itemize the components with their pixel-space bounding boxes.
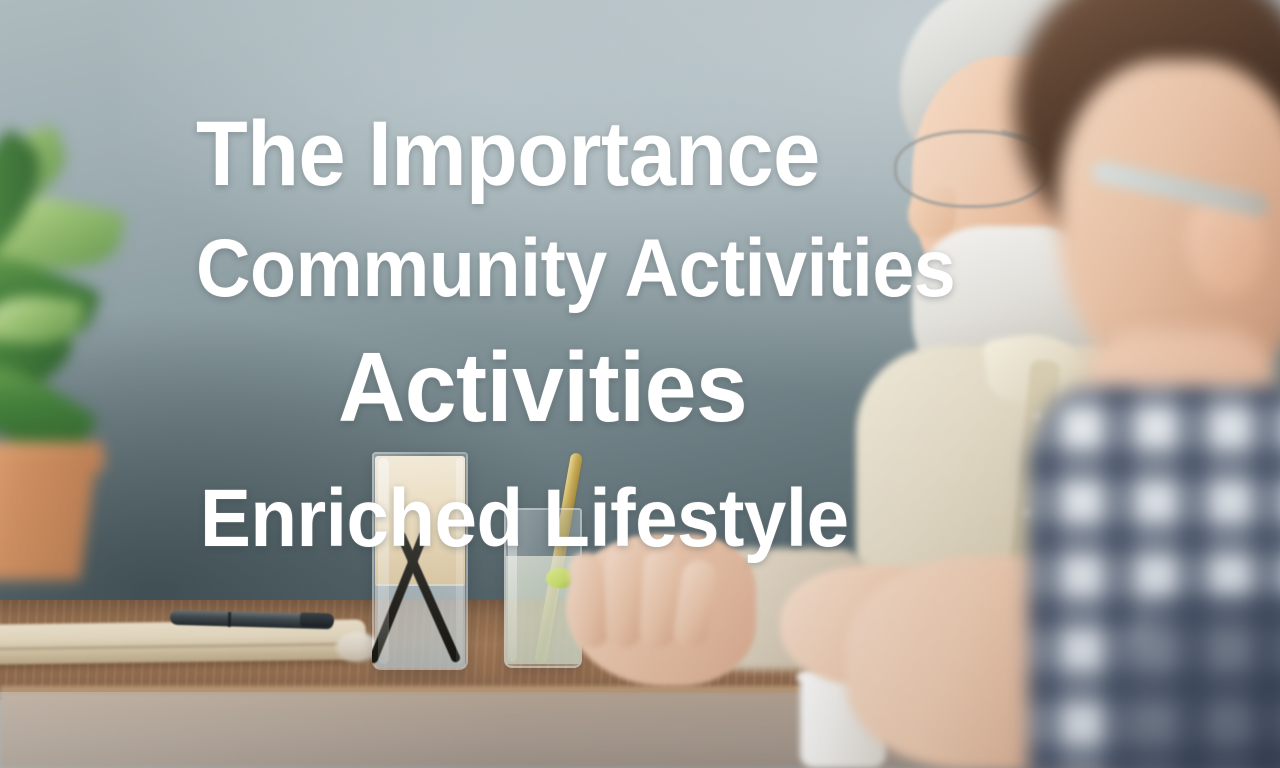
hand-holding-glass: [566, 534, 756, 686]
glass-cream-drink: [372, 452, 468, 670]
foreground-person-shoulder: [1120, 600, 1280, 768]
potted-plant: [0, 150, 190, 570]
pen-band: [228, 612, 231, 627]
glass-highlight: [508, 512, 517, 662]
plant-pot: [0, 450, 98, 580]
glass-highlight: [378, 458, 389, 664]
glass-highlight: [456, 458, 463, 664]
pen-tip: [300, 613, 334, 628]
banner-image: The Importance Community Activities Acti…: [0, 0, 1280, 768]
